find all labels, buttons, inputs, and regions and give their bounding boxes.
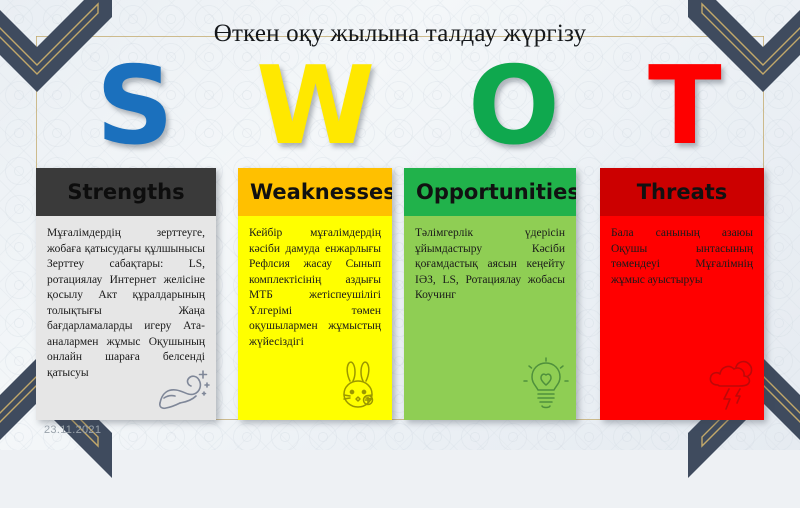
- card-threats-text: Бала санының азаюы Оқушы ынтасының төмен…: [611, 226, 753, 288]
- card-weaknesses[interactable]: Weaknesses Кейбір мұғалімдердің кәсіби д…: [238, 168, 392, 420]
- card-opportunities-text: Тәлімгерлік үдерісін ұйымдастыру Кәсіби …: [415, 226, 565, 304]
- swot-letter-o: O: [468, 52, 560, 162]
- card-opportunities-title: Opportunities: [416, 180, 576, 204]
- lightbulb-icon: [522, 357, 570, 417]
- card-weaknesses-text: Кейбір мұғалімдердің кәсіби дамуда енжар…: [249, 226, 381, 350]
- storm-cloud-icon: [702, 355, 758, 417]
- card-opportunities-body: Тәлімгерлік үдерісін ұйымдастыру Кәсіби …: [404, 216, 576, 420]
- date-stamp: 23.11.2021: [44, 424, 101, 436]
- card-threats-header: Threats: [600, 168, 764, 216]
- card-strengths-title: Strengths: [67, 180, 184, 204]
- card-weaknesses-title: Weaknesses: [250, 180, 392, 204]
- swot-letter-w: W: [256, 52, 375, 162]
- rabbit-icon: [334, 359, 386, 417]
- card-threats-title: Threats: [637, 180, 728, 204]
- card-strengths-body: Мұғалімдердің зерттеуге, жобаға қатысуда…: [36, 216, 216, 420]
- card-threats[interactable]: Threats Бала санының азаюы Оқушы ынтасын…: [600, 168, 764, 420]
- swot-letter-s: S: [96, 52, 174, 162]
- card-weaknesses-body: Кейбір мұғалімдердің кәсіби дамуда енжар…: [238, 216, 392, 420]
- card-threats-body: Бала санының азаюы Оқушы ынтасының төмен…: [600, 216, 764, 420]
- swot-letters-row: S W O T: [0, 52, 800, 162]
- card-opportunities-header: Opportunities: [404, 168, 576, 216]
- card-opportunities[interactable]: Opportunities Тәлімгерлік үдерісін ұйымд…: [404, 168, 576, 420]
- card-strengths-text: Мұғалімдердің зерттеуге, жобаға қатысуда…: [47, 226, 205, 381]
- card-weaknesses-header: Weaknesses: [238, 168, 392, 216]
- card-strengths[interactable]: Strengths Мұғалімдердің зерттеуге, жобағ…: [36, 168, 216, 420]
- card-strengths-header: Strengths: [36, 168, 216, 216]
- page-title: Өткен оқу жылына талдау жүргізу: [0, 20, 800, 48]
- swot-letter-t: T: [648, 52, 722, 162]
